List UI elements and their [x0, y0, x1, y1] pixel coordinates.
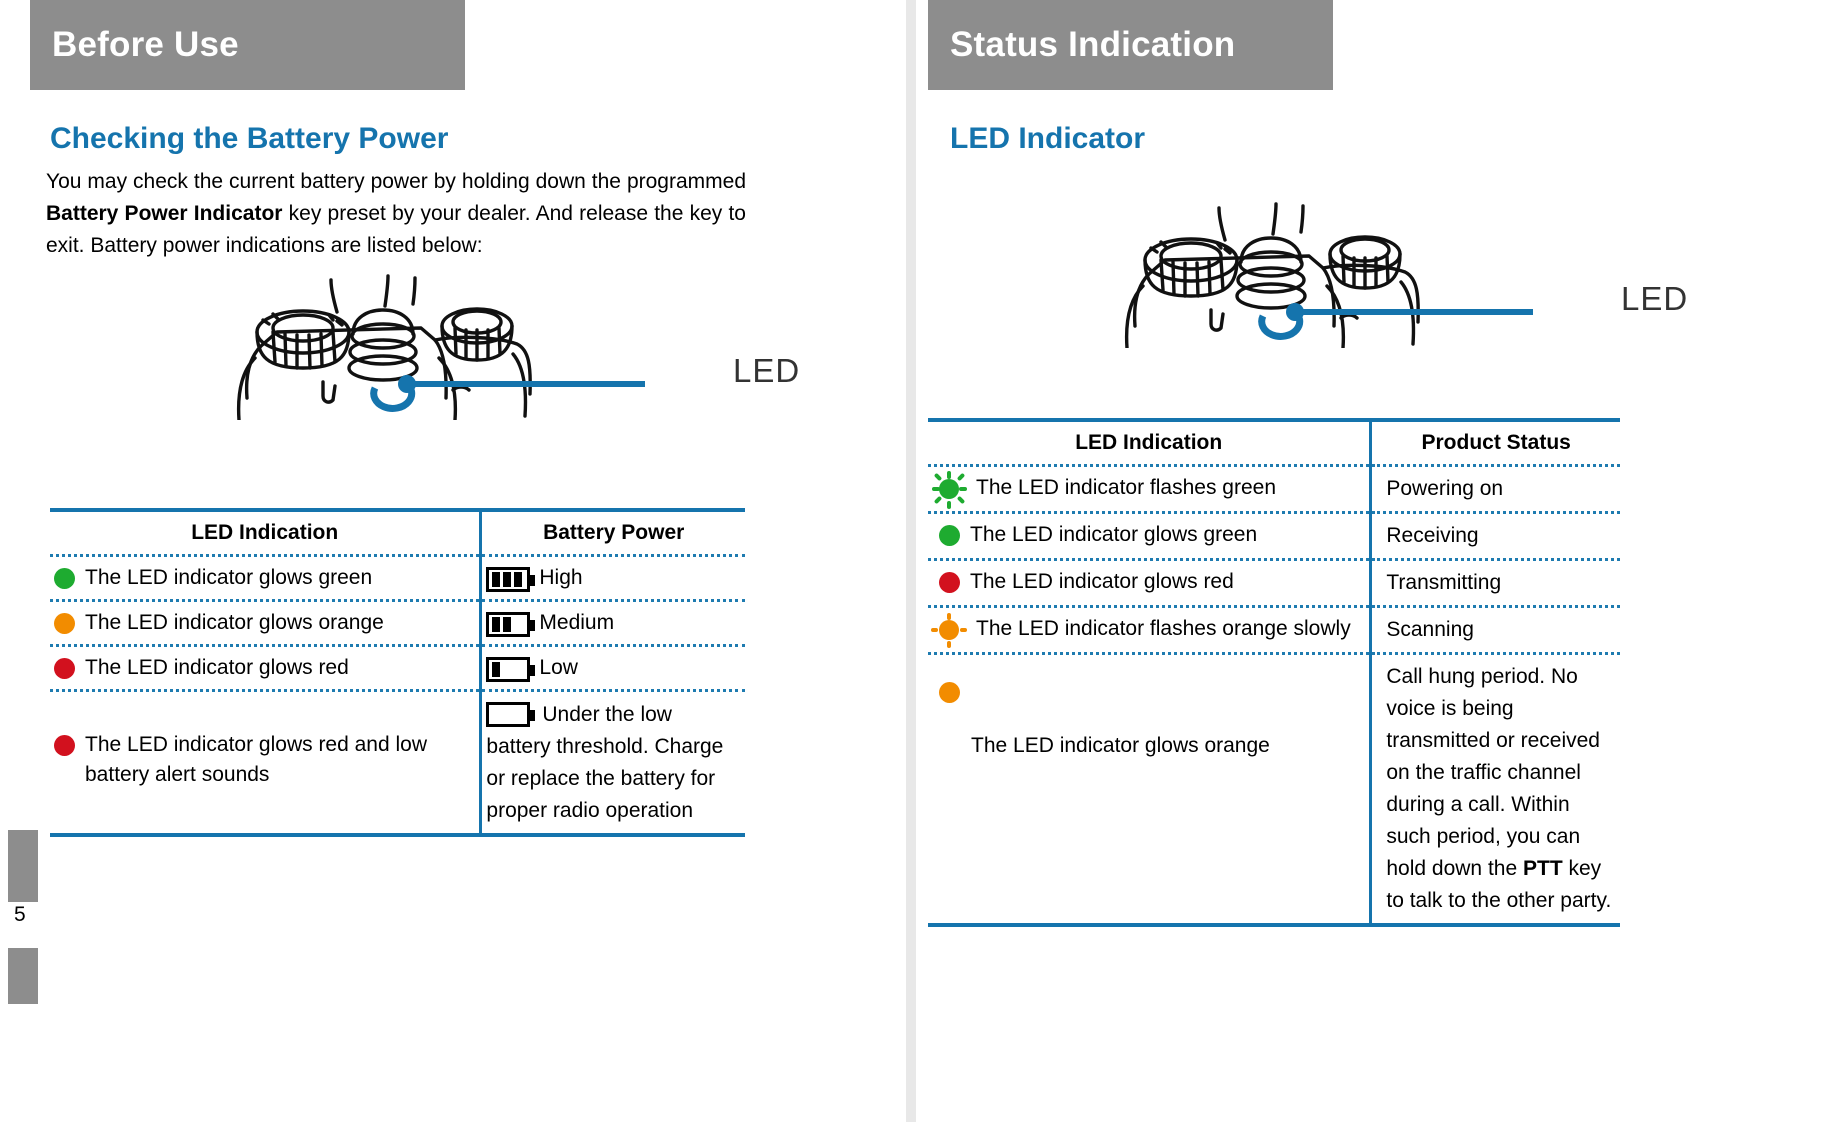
cell-led-indication: The LED indicator flashes green [928, 466, 1371, 513]
product-status-text: Scanning [1376, 614, 1616, 646]
led-red-glow-icon [54, 658, 75, 679]
cell-product-status: Transmitting [1371, 560, 1620, 607]
table-row: The LED indicator glows green High [50, 556, 745, 601]
cell-product-status: Call hung period. No voice is being tran… [1371, 654, 1620, 926]
radio-top-view-svg [225, 270, 655, 420]
intro-paragraph: You may check the current battery power … [46, 166, 746, 262]
led-green-glow-icon [939, 525, 960, 546]
battery-low-icon [486, 657, 530, 682]
cell-led-indication: The LED indicator flashes orange slowly [928, 607, 1371, 654]
led-indication-text: The LED indicator glows green [970, 520, 1257, 550]
battery-level-label: High [539, 563, 582, 593]
led-indication-text: The LED indicator flashes green [976, 473, 1276, 503]
battery-high-icon [486, 567, 530, 592]
led-indication-text: The LED indicator flashes orange slowly [976, 614, 1351, 644]
page-marker-lower [8, 948, 38, 1004]
column-header-led-indication: LED Indication [50, 510, 481, 556]
led-indication-text: The LED indicator glows red [970, 567, 1234, 597]
page-gutter [900, 0, 928, 1122]
chapter-title: Before Use [52, 25, 239, 65]
table-row: The LED indicator glows orange Medium [50, 601, 745, 646]
led-callout-marker [374, 375, 645, 408]
section-heading-led-indicator: LED Indicator [950, 122, 1145, 156]
table-row: The LED indicator glows orange Call hung… [928, 654, 1620, 926]
battery-medium-icon [486, 612, 530, 637]
cell-product-status: Scanning [1371, 607, 1620, 654]
page-number: 5 [14, 903, 26, 927]
cell-led-indication: The LED indicator glows orange [928, 654, 1371, 926]
column-header-product-status: Product Status [1371, 420, 1620, 466]
led-indication-text: The LED indicator glows orange [939, 731, 1365, 761]
page-spread: Before Use Checking the Battery Power Yo… [0, 0, 1828, 1122]
chapter-title: Status Indication [950, 25, 1235, 65]
section-heading-checking-battery-power: Checking the Battery Power [50, 122, 448, 156]
chapter-header-status-indication: Status Indication [928, 0, 1333, 90]
cell-battery-power: High [481, 556, 745, 601]
column-header-battery-power: Battery Power [481, 510, 745, 556]
product-status-lead: Call hung period. No voice is being tran… [1386, 665, 1600, 880]
table-header-row: LED Indication Product Status [928, 420, 1620, 466]
led-orange-glow-icon [54, 613, 75, 634]
table-row: The LED indicator flashes orange slowly … [928, 607, 1620, 654]
chapter-header-before-use: Before Use [30, 0, 465, 90]
led-orange-flashing-slow-icon [932, 614, 966, 646]
cell-led-indication: The LED indicator glows orange [50, 601, 481, 646]
cell-battery-power: Medium [481, 601, 745, 646]
product-status-text-long: Call hung period. No voice is being tran… [1376, 661, 1616, 917]
product-status-bold-key: PTT [1523, 857, 1563, 880]
right-page: Status Indication LED Indicator [928, 0, 1828, 1122]
column-header-led-indication: LED Indication [928, 420, 1371, 466]
cell-led-indication: The LED indicator glows red and low batt… [50, 691, 481, 836]
led-red-glow-icon [939, 572, 960, 593]
led-indication-text: The LED indicator glows orange [85, 608, 384, 638]
cell-battery-power: Low [481, 646, 745, 691]
cell-led-indication: The LED indicator glows green [928, 513, 1371, 560]
paragraph-bold-key: Battery Power Indicator [46, 202, 282, 225]
led-indication-text: The LED indicator glows red [85, 653, 349, 683]
led-callout-label-left: LED [733, 352, 800, 390]
paragraph-text-lead: You may check the current battery power … [46, 170, 746, 193]
table-row: The LED indicator glows red Low [50, 646, 745, 691]
led-callout-marker [1262, 303, 1533, 336]
page-marker-upper [8, 830, 38, 902]
table-row: The LED indicator glows red and low batt… [50, 691, 745, 836]
led-red-glow-icon [54, 735, 75, 756]
led-indication-text: The LED indicator glows red and low batt… [85, 730, 475, 790]
cell-led-indication: The LED indicator glows green [50, 556, 481, 601]
led-callout-label-right: LED [1621, 280, 1688, 318]
table-header-row: LED Indication Battery Power [50, 510, 745, 556]
led-indication-text: The LED indicator glows green [85, 563, 372, 593]
product-status-text: Receiving [1376, 520, 1616, 552]
radio-illustration-left: LED [225, 270, 655, 425]
table-row: The LED indicator flashes green Powering… [928, 466, 1620, 513]
table-row: The LED indicator glows green Receiving [928, 513, 1620, 560]
cell-battery-power: Under the low battery threshold. Charge … [481, 691, 745, 836]
cell-product-status: Powering on [1371, 466, 1620, 513]
table-row: The LED indicator glows red Transmitting [928, 560, 1620, 607]
battery-level-label: Medium [539, 608, 614, 638]
led-indicator-status-table: LED Indication Product Status [928, 418, 1620, 927]
cell-led-indication: The LED indicator glows red [50, 646, 481, 691]
product-status-text: Transmitting [1376, 567, 1616, 599]
led-orange-glow-icon [939, 682, 960, 703]
battery-power-table: LED Indication Battery Power The LED ind… [50, 508, 745, 837]
radio-top-view-svg [1113, 198, 1543, 348]
product-status-text: Powering on [1376, 473, 1616, 505]
led-green-flashing-icon [932, 473, 966, 505]
battery-empty-icon [486, 702, 530, 727]
battery-level-label: Low [539, 653, 578, 683]
led-green-glow-icon [54, 568, 75, 589]
cell-led-indication: The LED indicator glows red [928, 560, 1371, 607]
cell-product-status: Receiving [1371, 513, 1620, 560]
left-page: Before Use Checking the Battery Power Yo… [0, 0, 900, 1122]
radio-illustration-right: LED [1113, 198, 1543, 353]
